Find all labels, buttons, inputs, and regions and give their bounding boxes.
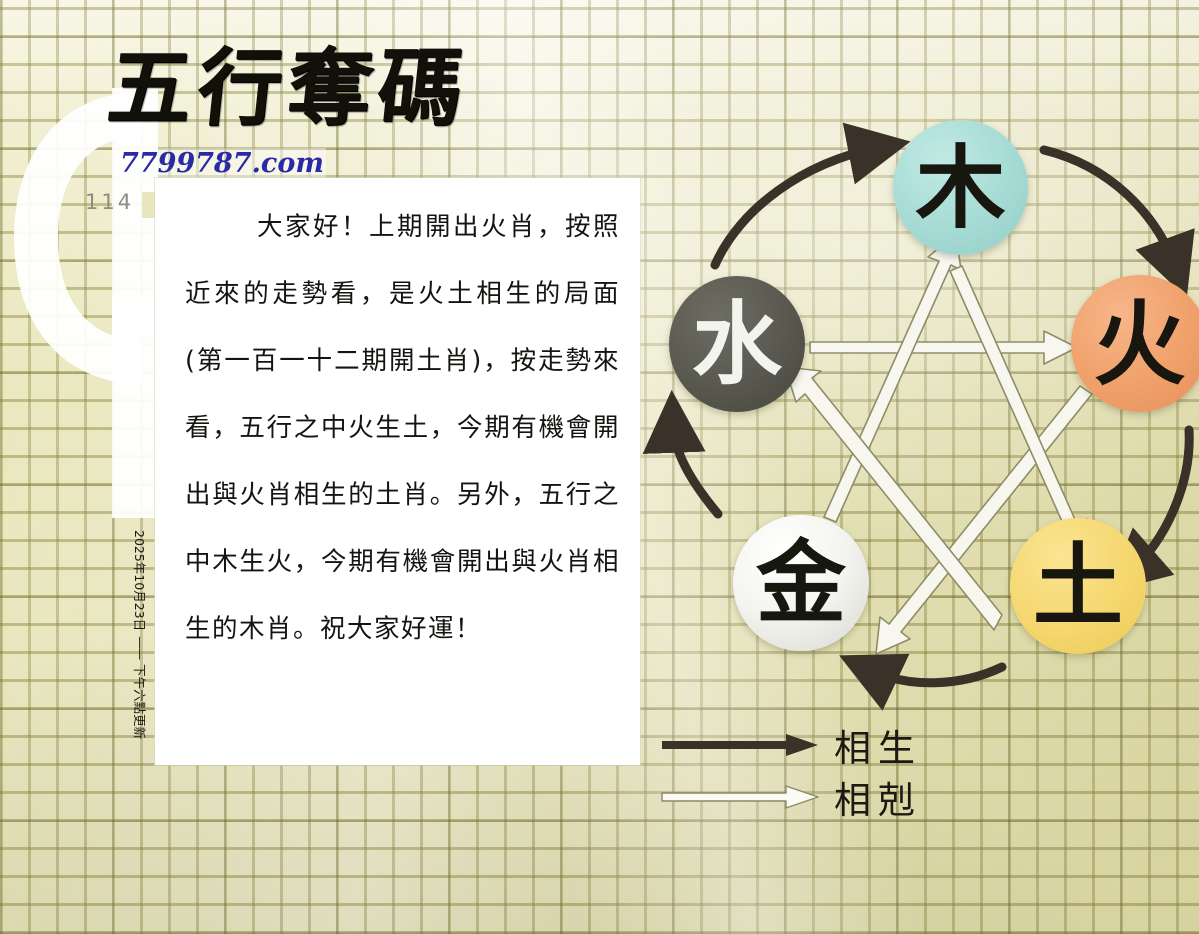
arc-wood-to-fire — [1044, 150, 1175, 266]
element-node-fire[interactable]: 火 — [1071, 275, 1199, 412]
diagram-legend: 相生 相剋 — [660, 722, 960, 834]
element-label-earth: 土 — [1033, 541, 1123, 631]
element-label-metal: 金 — [756, 538, 846, 628]
arrow-water-to-fire — [810, 331, 1077, 364]
article-text: 大家好！上期開出火肖，按照近來的走勢看，是火土相生的局面(第一百一十二期開土肖)… — [185, 194, 620, 663]
update-note-date: 2025年10月23日 — [132, 530, 151, 631]
poster-canvas: 五行奪碼 7799787.com 114 2025年10月23日 —— 下午六點… — [0, 0, 1199, 934]
update-note-time: 下午六點更新 — [132, 664, 151, 739]
issue-number: 114 — [85, 190, 134, 214]
update-note-separator: —— — [134, 636, 149, 659]
arc-fire-to-earth — [1132, 430, 1189, 570]
legend-label-overcoming: 相剋 — [834, 770, 922, 824]
site-watermark: 7799787.com — [118, 148, 326, 179]
dark-arrow-icon — [660, 732, 820, 758]
legend-item-overcoming: 相剋 — [660, 774, 922, 820]
article-panel: 大家好！上期開出火肖，按照近來的走勢看，是火土相生的局面(第一百一十二期開土肖)… — [155, 178, 640, 765]
arc-earth-to-metal — [870, 667, 1002, 683]
five-element-diagram: 木 火 土 金 水 — [640, 90, 1199, 810]
element-node-earth[interactable]: 土 — [1010, 518, 1146, 654]
update-note: 2025年10月23日 —— 下午六點更新 — [131, 530, 151, 740]
arc-metal-to-water — [673, 424, 718, 514]
element-node-water[interactable]: 水 — [669, 276, 805, 412]
arc-water-to-wood — [715, 148, 877, 265]
white-arrow-icon — [660, 784, 820, 810]
element-label-fire: 火 — [1093, 298, 1185, 390]
element-node-wood[interactable]: 木 — [893, 120, 1028, 255]
page-title: 五行奪碼 — [104, 46, 473, 130]
element-node-metal[interactable]: 金 — [733, 515, 869, 651]
element-label-wood: 木 — [916, 143, 1006, 233]
legend-label-generating: 相生 — [834, 718, 922, 772]
legend-item-generating: 相生 — [660, 722, 922, 768]
element-label-water: 水 — [692, 299, 782, 389]
